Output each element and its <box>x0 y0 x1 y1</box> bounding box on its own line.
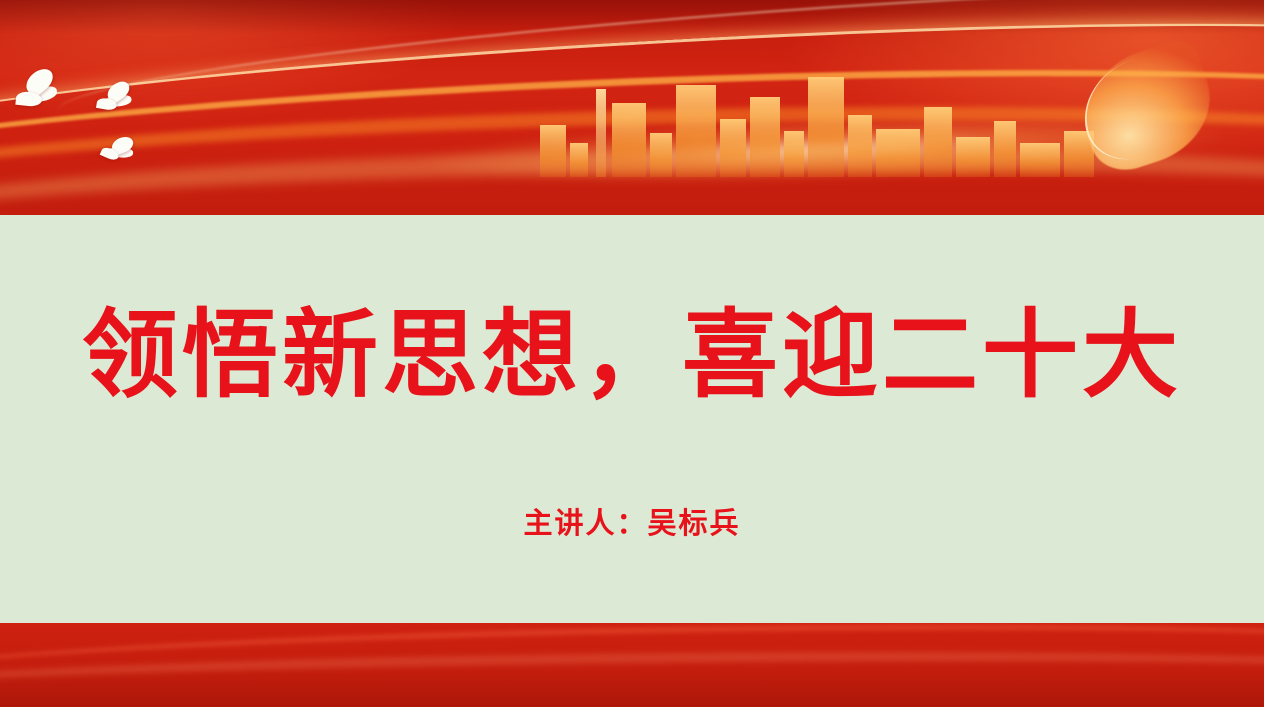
slide-body: 领悟新思想，喜迎二十大 主讲人：吴标兵 <box>0 215 1264 627</box>
presentation-slide: 领悟新思想，喜迎二十大 主讲人：吴标兵 <box>0 0 1264 707</box>
bottom-red-band <box>0 623 1264 707</box>
presenter-subtitle: 主讲人：吴标兵 <box>0 500 1264 542</box>
page-title: 领悟新思想，喜迎二十大 <box>0 300 1264 410</box>
top-red-banner <box>0 0 1264 215</box>
bottom-sweep-1 <box>0 623 1264 707</box>
city-skyline-icon <box>540 57 1100 177</box>
banner-top-shadow <box>0 0 1264 34</box>
